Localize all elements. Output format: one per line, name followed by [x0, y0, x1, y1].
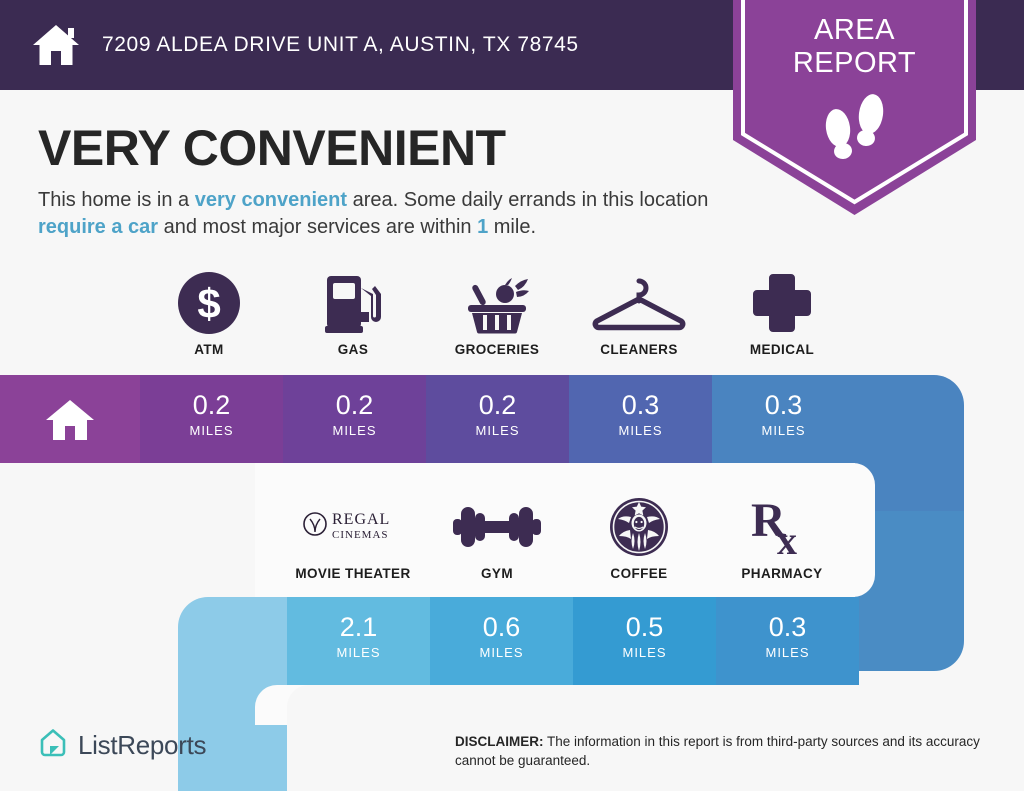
area-report-badge: AREA REPORT — [733, 0, 976, 215]
amenity-coffee: COFFEE — [559, 496, 719, 581]
distance-value: 0.5 — [573, 614, 716, 641]
distance-unit: MILES — [712, 423, 855, 438]
svg-text:$: $ — [197, 280, 220, 327]
medical-cross-icon — [702, 272, 862, 334]
distance-unit: MILES — [140, 423, 283, 438]
distance-segment: 0.3 MILES — [716, 597, 859, 685]
distance-unit: MILES — [569, 423, 712, 438]
amenity-gym: GYM — [417, 496, 577, 581]
distance-value: 0.2 — [283, 392, 426, 419]
regal-cinemas-logo: REGAL CINEMAS — [273, 496, 433, 558]
distance-unit: MILES — [573, 645, 716, 660]
distance-value: 2.1 — [287, 614, 430, 641]
amenity-label: ATM — [129, 342, 289, 357]
amenity-medical: MEDICAL — [702, 272, 862, 357]
distance-segment: 0.5 MILES — [573, 597, 716, 685]
distance-value: 0.3 — [569, 392, 712, 419]
distance-unit: MILES — [426, 423, 569, 438]
amenity-icon-row-2: REGAL CINEMAS MOVIE THEATER — [0, 496, 1024, 596]
amenity-label: GYM — [417, 566, 577, 581]
home-icon — [45, 399, 95, 441]
gas-pump-icon — [273, 272, 433, 334]
summary-part-2: area. Some daily errands in this locatio… — [347, 189, 708, 211]
summary-part-1: This home is in a — [38, 189, 195, 211]
amenity-label: GROCERIES — [417, 342, 577, 357]
summary-part-3: and most major services are within — [158, 216, 477, 238]
distance-unit: MILES — [716, 645, 859, 660]
amenity-movie-theater: REGAL CINEMAS MOVIE THEATER — [273, 496, 433, 581]
summary-highlight-3: 1 — [477, 216, 488, 238]
svg-text:CINEMAS: CINEMAS — [332, 529, 389, 541]
distance-segment: 0.2 MILES — [140, 375, 283, 463]
property-address: 7209 ALDEA DRIVE UNIT A, AUSTIN, TX 7874… — [102, 33, 579, 57]
distance-segment: 0.3 MILES — [712, 375, 855, 463]
distance-segment: 0.2 MILES — [426, 375, 569, 463]
distance-value: 0.3 — [716, 614, 859, 641]
amenity-groceries: GROCERIES — [417, 272, 577, 357]
amenity-pharmacy: R x PHARMACY — [702, 496, 862, 581]
distance-value: 0.2 — [140, 392, 283, 419]
distance-value: 0.2 — [426, 392, 569, 419]
svg-text:x: x — [777, 518, 797, 558]
hanger-icon — [559, 272, 719, 334]
distance-segment: 0.3 MILES — [569, 375, 712, 463]
summary-highlight-1: very convenient — [195, 189, 347, 211]
distance-unit: MILES — [430, 645, 573, 660]
svg-text:REGAL: REGAL — [332, 511, 390, 528]
distance-segment: 0.2 MILES — [283, 375, 426, 463]
dollar-circle-icon: $ — [129, 272, 289, 334]
amenity-icon-row-1: $ ATM GAS — [0, 272, 1024, 372]
dumbbell-icon — [417, 496, 577, 558]
amenity-cleaners: CLEANERS — [559, 272, 719, 357]
disclaimer: DISCLAIMER: The information in this repo… — [455, 732, 995, 770]
page-title: VERY CONVENIENT — [38, 119, 506, 177]
distance-segment: 2.1 MILES — [287, 597, 430, 685]
listreports-logo[interactable]: ListReports — [38, 727, 206, 764]
listreports-house-icon — [38, 727, 68, 764]
distance-value: 0.3 — [712, 392, 855, 419]
amenity-atm: $ ATM — [129, 272, 289, 357]
area-report-infographic: 7209 ALDEA DRIVE UNIT A, AUSTIN, TX 7874… — [0, 0, 1024, 791]
distance-segment: 0.6 MILES — [430, 597, 573, 685]
starbucks-logo — [559, 496, 719, 558]
amenity-label: GAS — [273, 342, 433, 357]
amenity-label: MEDICAL — [702, 342, 862, 357]
amenity-label: CLEANERS — [559, 342, 719, 357]
grocery-basket-icon — [417, 272, 577, 334]
distance-value: 0.6 — [430, 614, 573, 641]
ribbon-home-cell — [0, 375, 140, 463]
summary-highlight-2: require a car — [38, 216, 158, 238]
listreports-wordmark: ListReports — [78, 730, 206, 761]
distance-unit: MILES — [287, 645, 430, 660]
home-icon — [32, 23, 80, 67]
amenity-gas: GAS — [273, 272, 433, 357]
summary-part-4: mile. — [488, 216, 536, 238]
amenity-label: MOVIE THEATER — [273, 566, 433, 581]
rx-icon: R x — [702, 496, 862, 558]
amenity-label: PHARMACY — [702, 566, 862, 581]
distance-unit: MILES — [283, 423, 426, 438]
disclaimer-label: DISCLAIMER: — [455, 734, 544, 749]
summary-text: This home is in a very convenient area. … — [38, 187, 728, 241]
amenity-label: COFFEE — [559, 566, 719, 581]
